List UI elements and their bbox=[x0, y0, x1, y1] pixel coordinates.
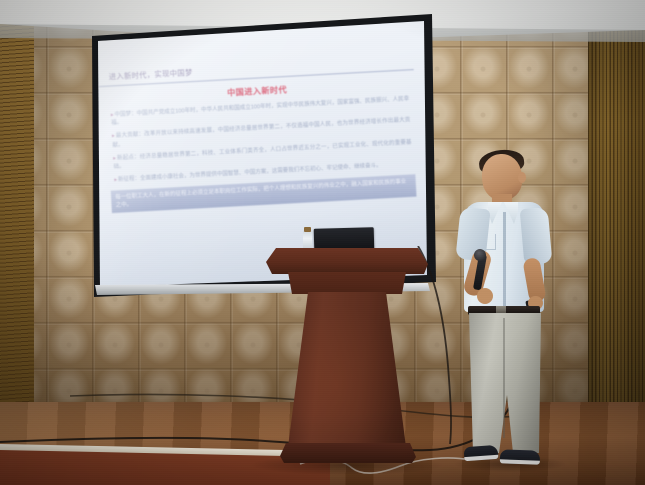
slide-bullet-list: ▸中国梦：中国共产党成立100年时，中华人民共和国成立100年时，实现中华民族伟… bbox=[100, 95, 419, 186]
podium-body bbox=[286, 292, 408, 447]
bullet-marker-icon: ▸ bbox=[111, 112, 114, 118]
podium-neck bbox=[284, 272, 410, 294]
wood-trim-right bbox=[588, 0, 645, 412]
podium-top bbox=[266, 248, 428, 274]
water-bottle-cap bbox=[304, 227, 311, 232]
bullet-marker-icon: ▸ bbox=[112, 134, 115, 140]
speaker-trouser-seam bbox=[503, 318, 505, 438]
speaker-shoe-right bbox=[500, 449, 540, 464]
bullet-marker-icon: ▸ bbox=[114, 177, 117, 183]
lecture-hall-photo: 进入新时代，实现中国梦 中国进入新时代 ▸中国梦：中国共产党成立100年时，中华… bbox=[0, 0, 645, 485]
speaker-ear bbox=[518, 172, 526, 183]
speaker-shirt-placket bbox=[503, 212, 506, 308]
speaker-trousers bbox=[467, 313, 543, 453]
podium-base bbox=[280, 443, 416, 463]
speaker-sleeve-right bbox=[520, 207, 553, 265]
wood-trim-left bbox=[0, 22, 34, 415]
speaker bbox=[448, 150, 578, 485]
bullet-marker-icon: ▸ bbox=[113, 155, 116, 161]
speaker-hand-left bbox=[477, 288, 493, 304]
podium bbox=[258, 248, 436, 473]
speaker-shoe-left bbox=[464, 445, 499, 461]
